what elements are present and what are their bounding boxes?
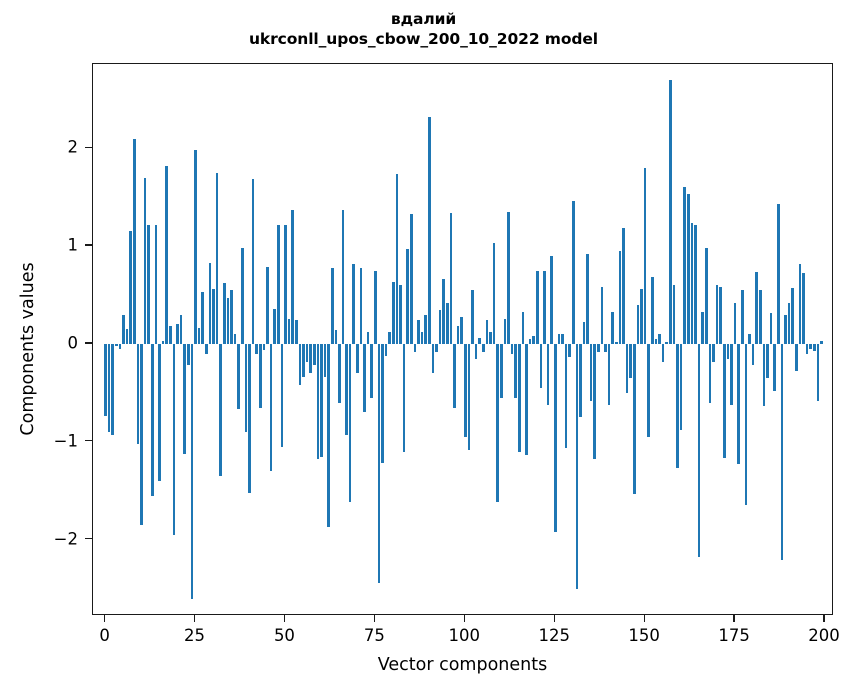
- bar: [414, 344, 417, 352]
- bar: [597, 344, 600, 352]
- bar: [403, 344, 406, 452]
- x-tick-mark: [823, 615, 824, 622]
- bar: [140, 344, 143, 525]
- y-tick-label: 1: [68, 236, 79, 255]
- x-tick-label: 0: [99, 626, 110, 645]
- chart-title-line-2: ukrconll_upos_cbow_200_10_2022 model: [0, 30, 847, 50]
- bar: [205, 344, 208, 354]
- bar: [637, 305, 640, 344]
- bar: [209, 263, 212, 344]
- bar: [504, 319, 507, 343]
- chart-title-line-1: вдалий: [0, 10, 847, 30]
- bar: [647, 344, 650, 437]
- bar: [611, 312, 614, 344]
- bar: [619, 251, 622, 344]
- bar: [745, 344, 748, 505]
- bar: [352, 264, 355, 344]
- bar: [514, 344, 517, 398]
- bar: [173, 344, 176, 535]
- x-tick-mark: [554, 615, 555, 622]
- bar: [165, 166, 168, 344]
- bar: [644, 168, 647, 344]
- bar: [151, 344, 154, 496]
- bar: [547, 344, 550, 405]
- bar: [741, 290, 744, 344]
- bar: [561, 334, 564, 344]
- bar: [446, 303, 449, 344]
- bar: [806, 344, 809, 354]
- bar: [169, 326, 172, 344]
- bar: [579, 344, 582, 417]
- bar: [230, 290, 233, 344]
- bar: [388, 332, 391, 344]
- bar: [651, 277, 654, 344]
- bar: [320, 344, 323, 458]
- matplotlib-figure: вдалий ukrconll_upos_cbow_200_10_2022 mo…: [0, 0, 847, 696]
- x-tick-label: 50: [274, 626, 295, 645]
- bar: [727, 344, 730, 359]
- bar: [370, 344, 373, 398]
- bar: [730, 344, 733, 405]
- bar: [673, 285, 676, 344]
- bar: [799, 264, 802, 344]
- bar: [522, 312, 525, 344]
- bar: [662, 344, 665, 362]
- bar: [119, 344, 122, 349]
- bar: [399, 285, 402, 344]
- bar: [255, 344, 258, 354]
- bar: [626, 344, 629, 393]
- bar: [349, 344, 352, 503]
- y-tick-label: 0: [68, 333, 79, 352]
- bar: [712, 344, 715, 362]
- bar: [306, 344, 309, 362]
- bar: [421, 332, 424, 344]
- y-tick-mark: [85, 147, 92, 148]
- bar: [360, 268, 363, 344]
- bar: [216, 173, 219, 344]
- bar: [687, 194, 690, 344]
- y-tick-mark: [85, 440, 92, 441]
- bar: [424, 315, 427, 344]
- plot-axes-frame: [92, 63, 833, 615]
- bar: [104, 344, 107, 416]
- bar: [507, 212, 510, 344]
- bar: [111, 344, 114, 435]
- bar: [313, 344, 316, 366]
- bar: [442, 279, 445, 344]
- bar: [345, 344, 348, 435]
- bar: [248, 344, 251, 493]
- bar: [694, 225, 697, 343]
- bar: [482, 344, 485, 352]
- bar: [406, 249, 409, 344]
- bar: [428, 117, 431, 344]
- bar: [302, 344, 305, 377]
- bar: [665, 342, 668, 344]
- bar: [309, 344, 312, 373]
- bar: [489, 332, 492, 344]
- bar: [770, 313, 773, 344]
- bar: [590, 344, 593, 401]
- bar: [568, 344, 571, 357]
- bar: [554, 344, 557, 532]
- bar: [137, 344, 140, 444]
- bar: [511, 344, 514, 354]
- bar: [723, 344, 726, 459]
- bar: [550, 256, 553, 344]
- bar: [791, 288, 794, 344]
- bar: [655, 339, 658, 344]
- bar: [374, 271, 377, 344]
- bar: [583, 322, 586, 344]
- bar: [755, 272, 758, 343]
- bar: [817, 344, 820, 401]
- bar: [468, 344, 471, 450]
- y-axis-label: Components values: [18, 169, 38, 529]
- bar: [773, 344, 776, 391]
- x-tick-label: 75: [364, 626, 385, 645]
- bar: [525, 344, 528, 455]
- bar: [270, 344, 273, 471]
- bar: [453, 344, 456, 408]
- bar: [813, 344, 816, 351]
- x-tick-mark: [374, 615, 375, 622]
- bar: [709, 344, 712, 403]
- x-tick-label: 100: [449, 626, 481, 645]
- bar: [212, 289, 215, 344]
- bar: [752, 344, 755, 366]
- bar: [237, 344, 240, 410]
- bar: [338, 344, 341, 403]
- bar: [486, 320, 489, 343]
- bar: [227, 298, 230, 344]
- bar: [155, 225, 158, 343]
- chart-title: вдалий ukrconll_upos_cbow_200_10_2022 mo…: [0, 10, 847, 50]
- bar: [496, 344, 499, 503]
- bar: [435, 344, 438, 352]
- bar: [324, 344, 327, 377]
- y-tick-label: −1: [54, 431, 78, 450]
- bar: [273, 309, 276, 344]
- bar: [356, 344, 359, 373]
- bar: [698, 344, 701, 557]
- bar: [820, 341, 823, 344]
- y-tick-mark: [85, 244, 92, 245]
- bar: [622, 228, 625, 343]
- bar: [586, 254, 589, 344]
- bar: [763, 344, 766, 406]
- x-tick-label: 150: [628, 626, 660, 645]
- bar: [198, 328, 201, 344]
- bar: [259, 344, 262, 408]
- bar: [766, 344, 769, 378]
- y-tick-mark: [85, 538, 92, 539]
- bar: [705, 248, 708, 344]
- y-tick-label: 2: [68, 138, 79, 157]
- x-tick-mark: [733, 615, 734, 622]
- bar: [658, 334, 661, 344]
- bar: [299, 344, 302, 385]
- bar: [500, 344, 503, 398]
- bar: [734, 303, 737, 344]
- bar: [291, 210, 294, 344]
- bar: [608, 344, 611, 405]
- x-tick-label: 125: [538, 626, 570, 645]
- bar: [417, 320, 420, 343]
- bar: [284, 225, 287, 344]
- bar: [295, 320, 298, 343]
- bar: [532, 336, 535, 344]
- bar: [439, 310, 442, 344]
- bar: [122, 315, 125, 344]
- bar: [558, 334, 561, 344]
- x-tick-label: 200: [808, 626, 840, 645]
- bar: [460, 317, 463, 343]
- bar: [342, 210, 345, 344]
- x-tick-label: 175: [718, 626, 750, 645]
- bar: [719, 287, 722, 344]
- bar: [219, 344, 222, 476]
- bar: [335, 330, 338, 344]
- bar: [378, 344, 381, 583]
- bar: [115, 344, 118, 346]
- bar: [385, 344, 388, 356]
- bar: [809, 344, 812, 349]
- bar: [777, 204, 780, 344]
- bar: [108, 344, 111, 432]
- bar: [331, 268, 334, 344]
- x-tick-mark: [194, 615, 195, 622]
- bar: [604, 344, 607, 352]
- bar: [640, 289, 643, 344]
- bar: [281, 344, 284, 447]
- bar: [669, 80, 672, 344]
- bar: [450, 213, 453, 344]
- bar: [540, 344, 543, 388]
- bar: [543, 271, 546, 344]
- bar: [680, 344, 683, 430]
- bar: [633, 344, 636, 494]
- bar: [737, 344, 740, 464]
- bar: [572, 201, 575, 344]
- bar-series-container: [93, 64, 832, 614]
- bar: [187, 344, 190, 366]
- bar: [327, 344, 330, 527]
- bar: [475, 344, 478, 359]
- bar: [266, 267, 269, 344]
- bar: [158, 344, 161, 481]
- bar: [748, 334, 751, 344]
- bar: [245, 344, 248, 432]
- bar: [147, 225, 150, 344]
- bar: [392, 282, 395, 344]
- y-tick-mark: [85, 342, 92, 343]
- bar: [629, 344, 632, 378]
- bar: [432, 344, 435, 373]
- bar: [529, 339, 532, 344]
- bar: [176, 324, 179, 344]
- bar: [191, 344, 194, 599]
- bar: [464, 344, 467, 437]
- x-tick-mark: [284, 615, 285, 622]
- bar: [162, 341, 165, 344]
- bar: [565, 344, 568, 448]
- bar: [795, 344, 798, 371]
- x-axis-label: Vector components: [92, 655, 833, 675]
- x-tick-label: 25: [184, 626, 205, 645]
- bar: [180, 315, 183, 344]
- y-axis: Components values 210−1−2: [0, 0, 92, 696]
- bar: [471, 290, 474, 344]
- x-tick-mark: [464, 615, 465, 622]
- bar: [317, 344, 320, 459]
- bar: [223, 283, 226, 344]
- bar: [615, 342, 618, 344]
- bar: [478, 338, 481, 344]
- bar: [676, 344, 679, 468]
- bar: [493, 243, 496, 344]
- bar: [457, 326, 460, 344]
- bar: [129, 231, 132, 344]
- bar: [781, 344, 784, 560]
- bar: [716, 285, 719, 344]
- bar: [381, 344, 384, 463]
- bar: [536, 271, 539, 343]
- bar: [701, 312, 704, 344]
- bar: [144, 178, 147, 344]
- bar: [683, 187, 686, 344]
- bar: [183, 344, 186, 454]
- bar: [241, 248, 244, 344]
- bar: [576, 344, 579, 589]
- bar: [396, 174, 399, 344]
- x-tick-mark: [104, 615, 105, 622]
- bar: [133, 139, 136, 344]
- bar: [518, 344, 521, 452]
- bar: [802, 273, 805, 343]
- bar: [363, 344, 366, 413]
- bar: [234, 334, 237, 344]
- bar: [691, 223, 694, 344]
- bar: [263, 344, 266, 350]
- bar: [277, 225, 280, 343]
- bar: [601, 287, 604, 344]
- bar: [593, 344, 596, 459]
- bar: [252, 179, 255, 344]
- bar: [788, 303, 791, 344]
- bar: [288, 319, 291, 343]
- bar: [759, 290, 762, 344]
- bar: [201, 292, 204, 344]
- bar: [194, 150, 197, 344]
- bar: [410, 214, 413, 344]
- y-tick-label: −2: [54, 529, 78, 548]
- bar: [367, 332, 370, 344]
- bar: [126, 329, 129, 344]
- x-tick-mark: [644, 615, 645, 622]
- bar: [784, 315, 787, 344]
